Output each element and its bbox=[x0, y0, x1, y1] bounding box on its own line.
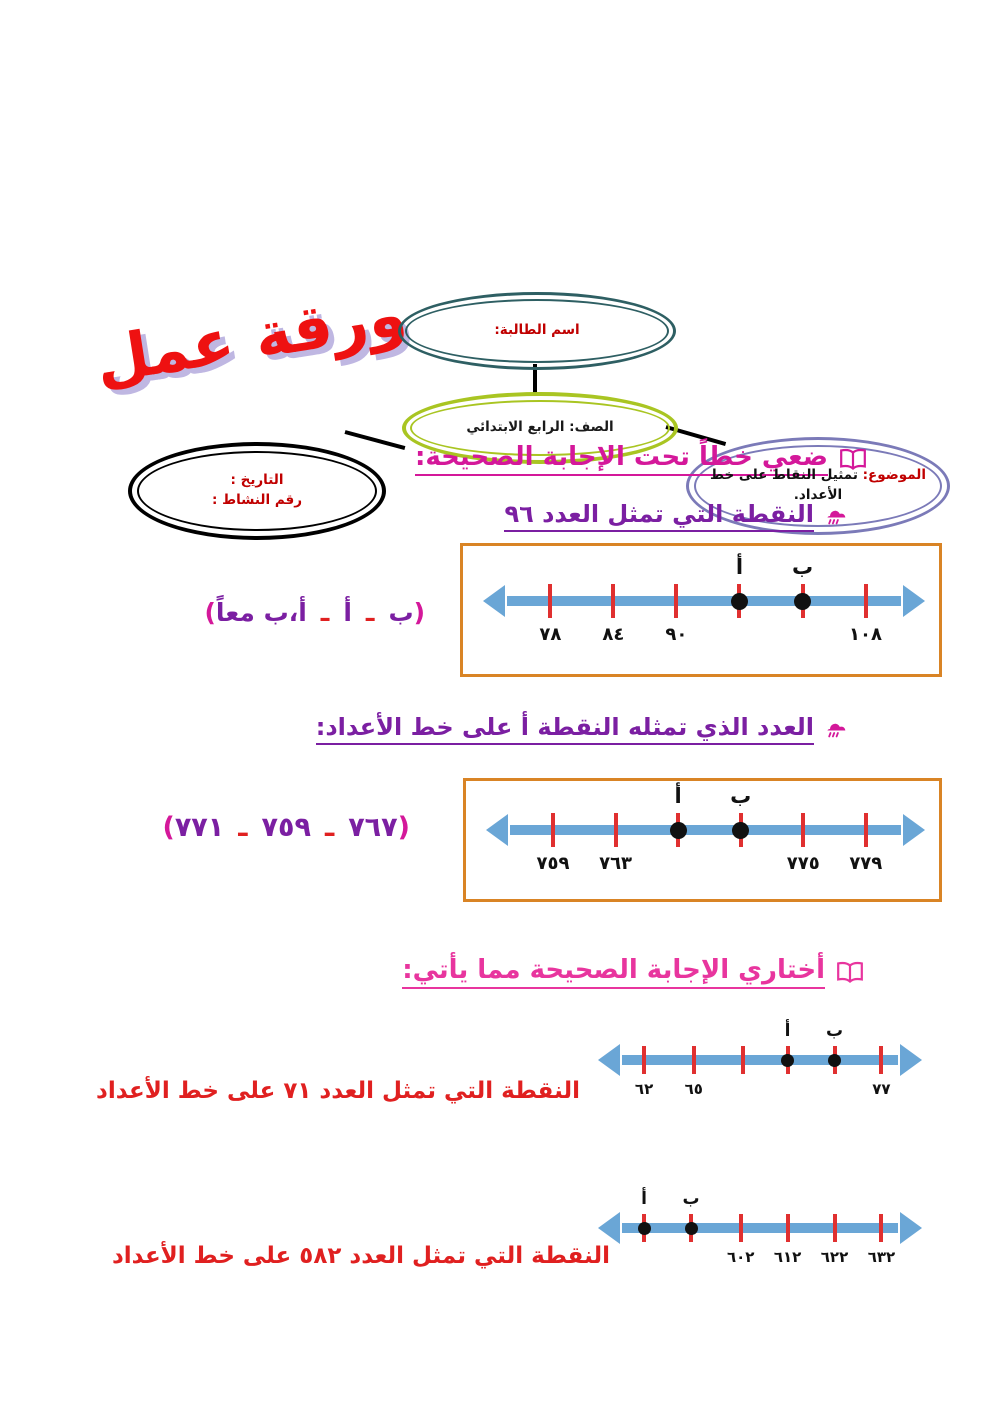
subject-label: الموضوع: bbox=[863, 467, 926, 483]
worksheet-page: ورقة عمل اسم الطالبة: الصف: الرابع الابت… bbox=[0, 0, 1000, 1413]
worksheet-header: ورقة عمل اسم الطالبة: الصف: الرابع الابت… bbox=[0, 130, 1000, 430]
axis-arrow-left bbox=[486, 814, 508, 846]
axis-arrow-left bbox=[598, 1212, 620, 1244]
axis-tick-label: ٧٧٥ bbox=[771, 853, 835, 874]
question2-heading: العدد الذي تمثله النقطة أ على خط الأعداد… bbox=[316, 713, 850, 745]
axis-tick bbox=[879, 1046, 883, 1074]
axis-tick bbox=[879, 1214, 883, 1242]
axis-arrow-right bbox=[903, 585, 925, 617]
option-3[interactable]: أ،ب معاً bbox=[216, 598, 307, 627]
axis-tick bbox=[551, 813, 555, 847]
numberline-point-label: ب bbox=[781, 555, 825, 579]
class-label: الصف: الرابع الابتدائي bbox=[452, 418, 627, 438]
numberline-point-label: ب bbox=[669, 1189, 713, 1209]
axis-tick-label: ٦٥ bbox=[662, 1080, 726, 1098]
section2-heading-text: أختاري الإجابة الصحيحة مما يأتي: bbox=[402, 955, 825, 989]
numberline-axis bbox=[622, 1055, 898, 1065]
option-1[interactable]: ب bbox=[388, 598, 413, 627]
activity-number-label: رقم النشاط : bbox=[212, 491, 302, 511]
option-separator: ـ bbox=[224, 812, 261, 843]
options-close-paren: ) bbox=[162, 812, 174, 843]
axis-arrow-right bbox=[903, 814, 925, 846]
axis-tick bbox=[692, 1046, 696, 1074]
axis-tick-label: ٧٧٩ bbox=[834, 853, 898, 874]
axis-arrow-right bbox=[900, 1212, 922, 1244]
numberline-2: ٧٥٩٧٦٣٧٧٥٧٧٩أب bbox=[484, 797, 927, 863]
axis-tick-label: ١٠٨ bbox=[834, 624, 898, 645]
book-icon bbox=[835, 960, 865, 984]
numberline-point[interactable] bbox=[685, 1222, 698, 1235]
axis-tick-label: ٧٦٣ bbox=[584, 853, 648, 874]
axis-arrow-left bbox=[598, 1044, 620, 1076]
section2-heading: أختاري الإجابة الصحيحة مما يأتي: bbox=[402, 955, 865, 989]
numberline-point-label: ب bbox=[813, 1021, 857, 1041]
date-label: التاريخ : bbox=[212, 471, 302, 491]
axis-arrow-right bbox=[900, 1044, 922, 1076]
numberline-axis bbox=[507, 596, 901, 606]
numberline-point-label: أ bbox=[656, 784, 700, 808]
numberline-point[interactable] bbox=[828, 1054, 841, 1067]
numberline-point-label: أ bbox=[717, 555, 761, 579]
axis-tick bbox=[642, 1046, 646, 1074]
question2-text: العدد الذي تمثله النقطة أ على خط الأعداد… bbox=[316, 713, 814, 745]
axis-tick-label: ٧٥٩ bbox=[521, 853, 585, 874]
axis-tick-label: ٨٤ bbox=[581, 624, 645, 645]
numberline-point[interactable] bbox=[638, 1222, 651, 1235]
question3-text: النقطة التي تمثل العدد ٧١ على خط الأعداد bbox=[96, 1078, 580, 1104]
numberline-4: ٦٠٢٦١٢٦٢٢٦٣٢أب bbox=[596, 1198, 924, 1258]
student-name-label: اسم الطالبة: bbox=[480, 321, 593, 341]
subject-value: تمثيل النقاط على خط الأعداد. bbox=[710, 467, 858, 503]
axis-tick bbox=[614, 813, 618, 847]
options-open-paren: ( bbox=[414, 598, 425, 627]
options-close-paren: ) bbox=[204, 598, 215, 627]
subject-text: الموضوع: تمثيل النقاط على خط الأعداد. bbox=[689, 466, 947, 505]
student-name-oval[interactable]: اسم الطالبة: bbox=[398, 292, 676, 370]
axis-tick bbox=[674, 584, 678, 618]
axis-tick bbox=[864, 813, 868, 847]
connector-class-date bbox=[344, 430, 405, 450]
axis-tick bbox=[741, 1046, 745, 1074]
option-separator: ـ bbox=[352, 598, 389, 627]
axis-tick bbox=[611, 584, 615, 618]
numberline-axis bbox=[510, 825, 901, 835]
option-2[interactable]: أ bbox=[343, 598, 352, 627]
date-oval[interactable]: التاريخ : رقم النشاط : bbox=[128, 442, 386, 540]
question1-options[interactable]: ( ب ـ أ ـ أ،ب معاً ) bbox=[204, 598, 425, 627]
numberline-point-label: أ bbox=[766, 1021, 810, 1041]
page-title: ورقة عمل bbox=[133, 278, 417, 429]
numberline-point-label: ب bbox=[719, 784, 763, 808]
date-activity-text: التاريخ : رقم النشاط : bbox=[198, 471, 316, 510]
numberline-point[interactable] bbox=[732, 822, 749, 839]
option-separator: ـ bbox=[307, 598, 344, 627]
numberline-2-box: ٧٥٩٧٦٣٧٧٥٧٧٩أب bbox=[463, 778, 942, 902]
axis-tick bbox=[833, 1214, 837, 1242]
numberline-point[interactable] bbox=[781, 1054, 794, 1067]
axis-tick-label: ٩٠ bbox=[644, 624, 708, 645]
numberline-1: ٧٨٨٤٩٠١٠٨أب bbox=[481, 566, 927, 636]
axis-tick bbox=[801, 813, 805, 847]
rain-cloud-icon bbox=[824, 718, 850, 740]
question4-text: النقطة التي تمثل العدد ٥٨٢ على خط الأعدا… bbox=[112, 1243, 610, 1269]
question2-options[interactable]: ( ٧٦٧ ـ ٧٥٩ ـ ٧٧١ ) bbox=[162, 812, 410, 843]
axis-tick-label: ٧٨ bbox=[518, 624, 582, 645]
numberline-3: ٦٢٦٥٧٧أب bbox=[596, 1030, 924, 1090]
axis-tick bbox=[786, 1214, 790, 1242]
numberline-point[interactable] bbox=[670, 822, 687, 839]
axis-tick bbox=[548, 584, 552, 618]
numberline-point[interactable] bbox=[794, 593, 811, 610]
axis-tick bbox=[739, 1214, 743, 1242]
option-1[interactable]: ٧٦٧ bbox=[348, 812, 397, 843]
axis-tick bbox=[864, 584, 868, 618]
numberline-point-label: أ bbox=[622, 1189, 666, 1209]
axis-arrow-left bbox=[483, 585, 505, 617]
options-open-paren: ( bbox=[398, 812, 410, 843]
option-separator: ـ bbox=[311, 812, 348, 843]
option-2[interactable]: ٧٥٩ bbox=[262, 812, 311, 843]
axis-tick-label: ٦٣٢ bbox=[849, 1248, 913, 1266]
axis-tick-label: ٧٧ bbox=[849, 1080, 913, 1098]
numberline-point[interactable] bbox=[731, 593, 748, 610]
numberline-1-box: ٧٨٨٤٩٠١٠٨أب bbox=[460, 543, 942, 677]
numberline-axis bbox=[622, 1223, 898, 1233]
option-3[interactable]: ٧٧١ bbox=[175, 812, 224, 843]
rain-cloud-icon bbox=[824, 505, 850, 527]
